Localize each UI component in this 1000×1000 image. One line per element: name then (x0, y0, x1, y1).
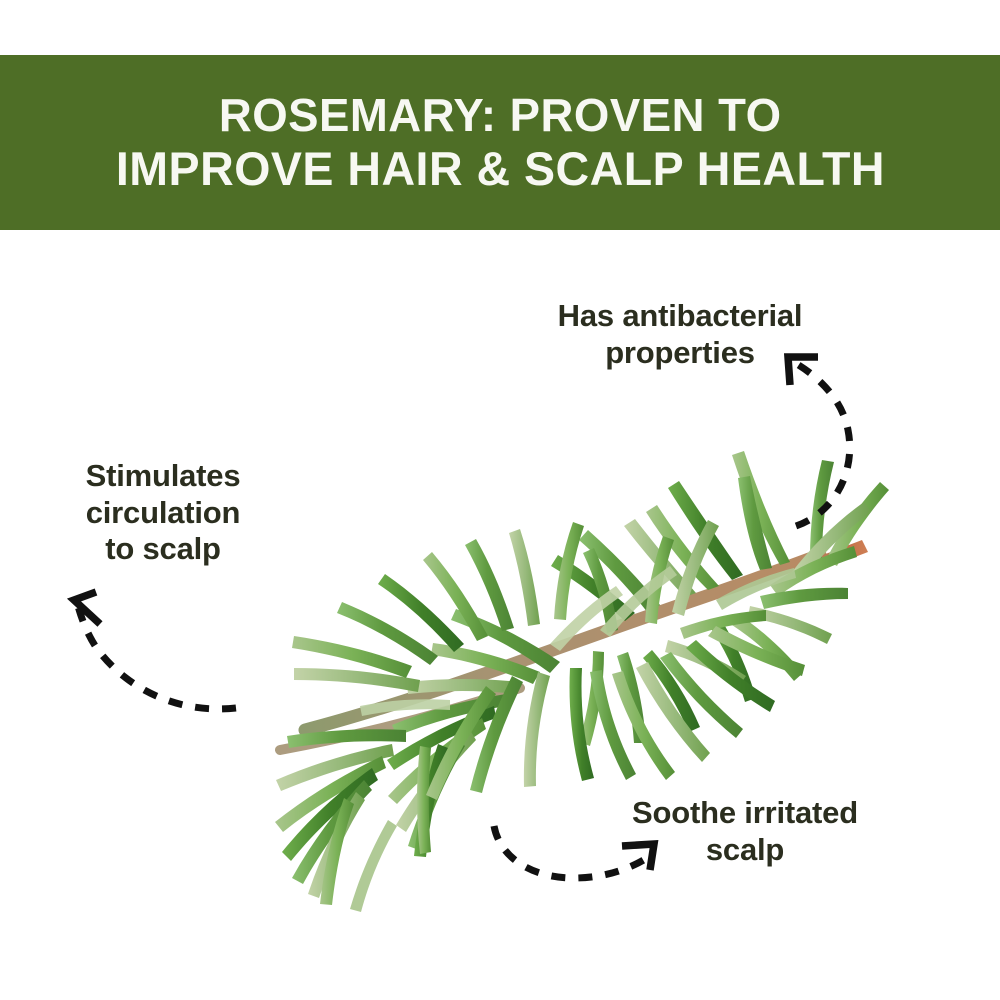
arrow-to-soothe-icon (470, 800, 680, 890)
header-title-line-2: IMPROVE HAIR & SCALP HEALTH (115, 142, 884, 196)
callout-circulation: Stimulates circulation to scalp (38, 458, 288, 568)
callout-circulation-line-1: Stimulates (38, 458, 288, 495)
header-title-line-1: ROSEMARY: PROVEN TO (219, 89, 782, 141)
arrow-to-circulation-icon (40, 580, 250, 720)
header-banner: ROSEMARY: PROVEN TO IMPROVE HAIR & SCALP… (0, 55, 1000, 230)
callout-circulation-line-2: circulation (38, 495, 288, 532)
callout-circulation-line-3: to scalp (38, 531, 288, 568)
needles-lower (426, 626, 805, 800)
infographic-canvas: ROSEMARY: PROVEN TO IMPROVE HAIR & SCALP… (0, 0, 1000, 1000)
arrow-to-antibacterial-icon (740, 330, 870, 530)
